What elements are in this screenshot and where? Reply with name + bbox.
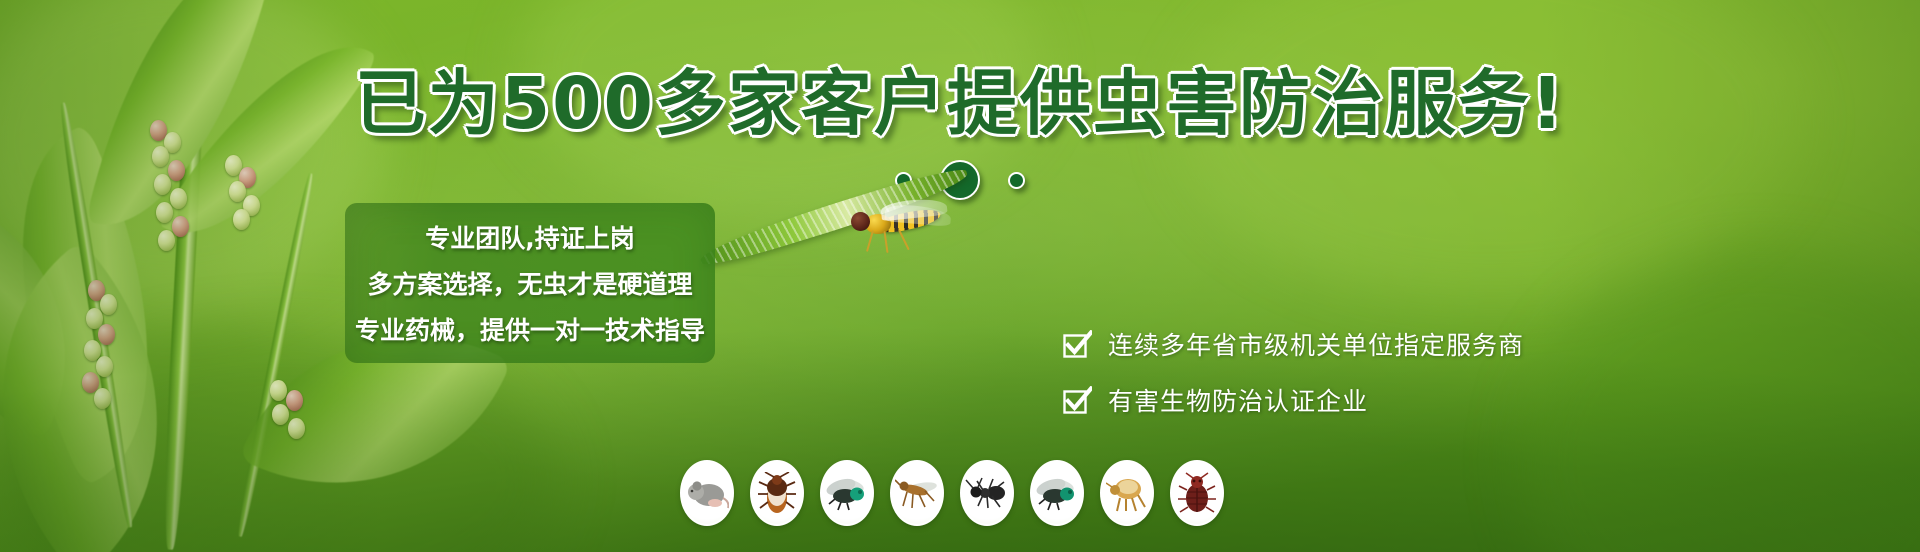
credential-label: 连续多年省市级机关单位指定服务商 (1108, 333, 1524, 358)
decorative-dot (1008, 172, 1025, 189)
mosquito-icon (890, 460, 944, 526)
cockroach-icon (750, 460, 804, 526)
flea-icon (1100, 460, 1154, 526)
selling-point-line: 专业团队,持证上岗 (425, 219, 635, 255)
mouse-icon (680, 460, 734, 526)
pest-control-hero-banner: 已为500多家客户提供虫害防治服务! 专业团队,持证上岗 多方案选择，无虫才是硬… (0, 0, 1920, 552)
checkbox-checked-icon (1062, 386, 1092, 416)
fly-icon (820, 460, 874, 526)
blowfly-icon (1030, 460, 1084, 526)
selling-point-line: 专业药械，提供一对一技术指导 (355, 311, 705, 347)
bedbug-icon (1170, 460, 1224, 526)
checkbox-checked-icon (1062, 330, 1092, 360)
page-title: 已为500多家客户提供虫害防治服务! (0, 68, 1920, 139)
list-item: 有害生物防治认证企业 (1062, 386, 1524, 416)
ant-icon (960, 460, 1014, 526)
list-item: 连续多年省市级机关单位指定服务商 (1062, 330, 1524, 360)
pest-icon-strip (680, 460, 1224, 526)
credentials-list: 连续多年省市级机关单位指定服务商 有害生物防治认证企业 (1062, 330, 1524, 416)
selling-points-text: 专业团队,持证上岗 多方案选择，无虫才是硬道理 专业药械，提供一对一技术指导 (345, 203, 715, 363)
hoverfly-icon (845, 198, 955, 256)
credential-label: 有害生物防治认证企业 (1108, 389, 1368, 414)
selling-point-line: 多方案选择，无虫才是硬道理 (367, 265, 692, 301)
